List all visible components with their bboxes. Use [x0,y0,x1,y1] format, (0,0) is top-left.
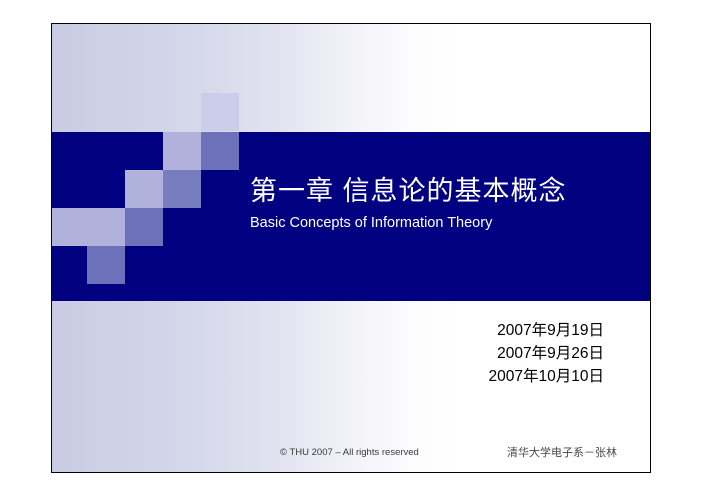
background-gradient-top [52,24,650,132]
decorative-square [87,246,125,284]
decorative-square [52,208,87,246]
screenshot-canvas: 第一章 信息论的基本概念 Basic Concepts of Informati… [0,0,702,496]
presentation-slide: 第一章 信息论的基本概念 Basic Concepts of Informati… [51,23,651,473]
decorative-square [125,170,163,208]
decorative-square [201,132,239,170]
footer-copyright: © THU 2007 – All rights reserved [280,447,419,458]
slide-title: 第一章 信息论的基本概念 [250,174,640,208]
decorative-square [87,208,125,246]
decorative-square [125,208,163,246]
date-line: 2007年9月26日 [489,342,604,365]
decorative-square [201,93,239,131]
title-block: 第一章 信息论的基本概念 Basic Concepts of Informati… [250,174,640,233]
date-line: 2007年9月19日 [489,319,604,342]
date-line: 2007年10月10日 [489,365,604,388]
decorative-square [163,132,201,170]
date-list: 2007年9月19日 2007年9月26日 2007年10月10日 [489,319,604,388]
slide-subtitle: Basic Concepts of Information Theory [250,213,640,233]
decorative-square [163,170,201,208]
footer-affiliation: 清华大学电子系－张林 [507,444,617,460]
